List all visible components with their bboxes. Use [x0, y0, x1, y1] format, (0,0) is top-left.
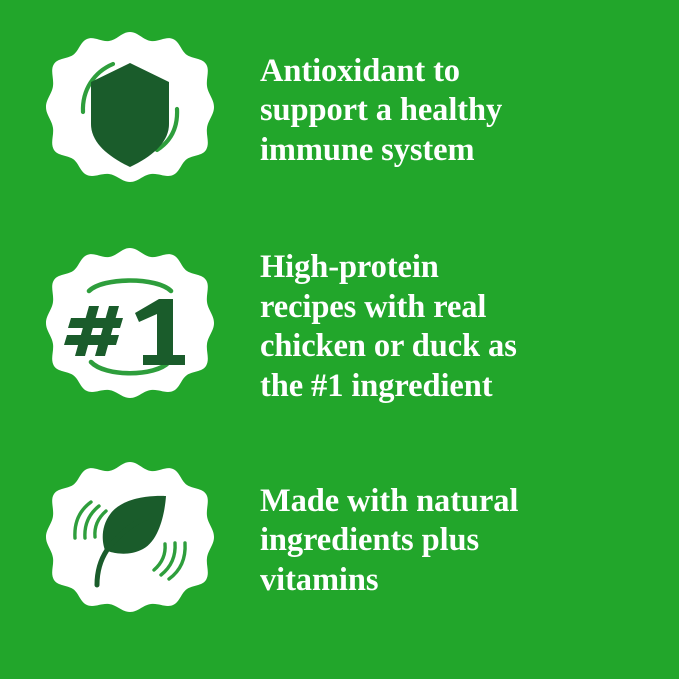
feature-row-high-protein: High-protein recipes with real chicken o…	[0, 234, 679, 420]
badge-shield	[47, 28, 213, 194]
badge-number-one	[47, 244, 213, 410]
feature-infographic: Antioxidant to support a healthy immune …	[0, 0, 679, 679]
feature-text-natural-ingredients: Made with natural ingredients plus vitam…	[260, 482, 679, 601]
badge-leaf	[47, 458, 213, 624]
feature-row-antioxidant: Antioxidant to support a healthy immune …	[0, 18, 679, 204]
feature-row-natural-ingredients: Made with natural ingredients plus vitam…	[0, 448, 679, 634]
feature-text-antioxidant: Antioxidant to support a healthy immune …	[260, 52, 679, 171]
badge-wrap-number-one	[0, 234, 260, 420]
feature-text-high-protein: High-protein recipes with real chicken o…	[260, 248, 679, 406]
badge-wrap-leaf	[0, 448, 260, 634]
badge-wrap-shield	[0, 18, 260, 204]
